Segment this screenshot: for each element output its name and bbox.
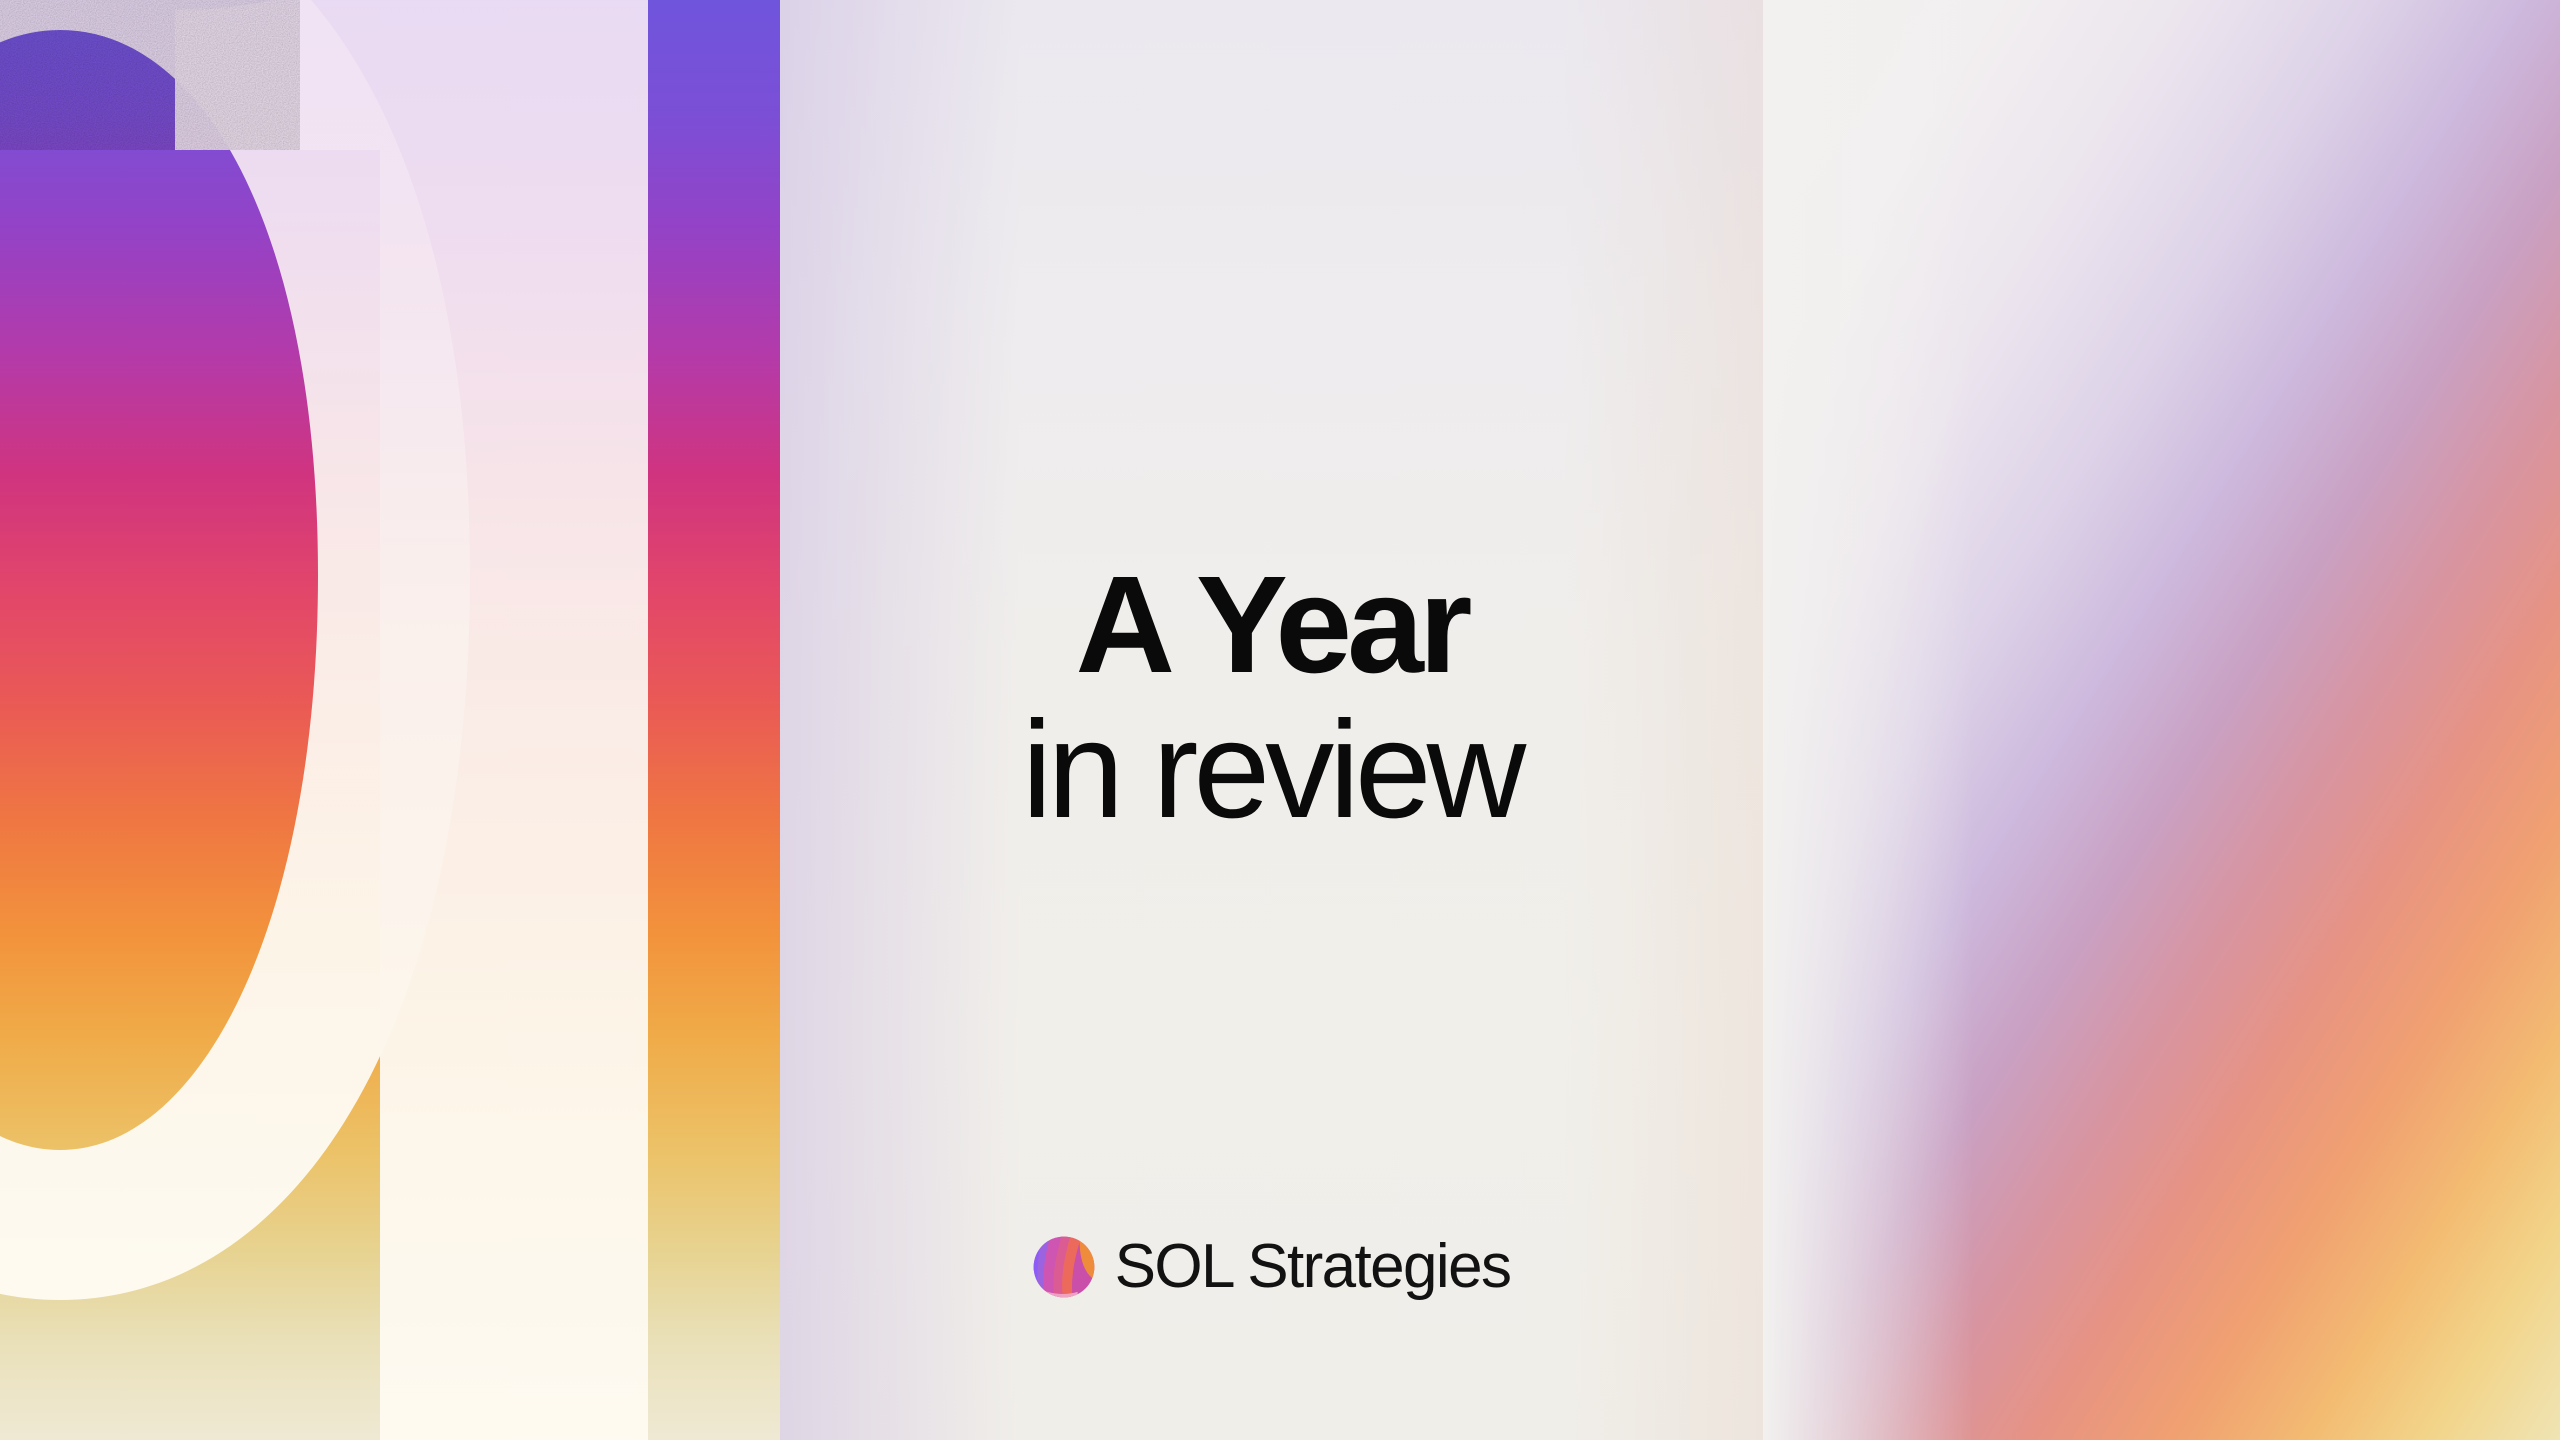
brand-lockup: SOL Strategies [780,1236,1763,1298]
title-slide: A Year in review [0,0,2560,1440]
section-number-01-graphic [0,0,780,1440]
headline-line-1: A Year [780,556,1763,694]
section-number-01-svg [0,0,780,1440]
brand-wordmark: SOL Strategies [1115,1236,1511,1298]
right-gradient-panel [1763,0,2560,1440]
slide-content-column: A Year in review [780,0,1763,1440]
headline-line-2: in review [780,700,1763,841]
headline: A Year in review [780,556,1763,841]
sol-strategies-logo-icon [1033,1236,1095,1298]
